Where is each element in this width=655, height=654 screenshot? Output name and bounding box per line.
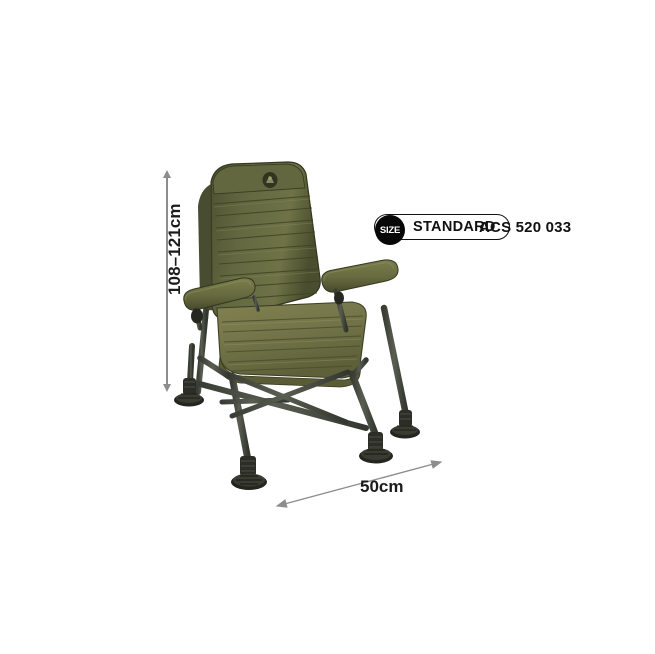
arrow-head-down-icon — [163, 384, 171, 392]
depth-arrow-line — [277, 462, 441, 506]
height-dimension-label: 108–121cm — [165, 205, 185, 295]
brand-emblem-icon — [263, 172, 278, 188]
chair-foot-rear-right — [390, 410, 420, 439]
product-image-canvas: 108–121cm 50cm SIZE STANDARD ACS 520 033 — [0, 0, 655, 654]
size-badge-circle-label: SIZE — [380, 225, 400, 236]
depth-dimension-arrow — [265, 452, 451, 518]
depth-dimension-label: 50cm — [360, 477, 403, 497]
chair-armrest-right — [322, 260, 398, 292]
product-code: ACS 520 033 — [479, 219, 571, 236]
size-badge-circle: SIZE — [375, 215, 405, 245]
chair-foot-front-left — [231, 456, 267, 490]
